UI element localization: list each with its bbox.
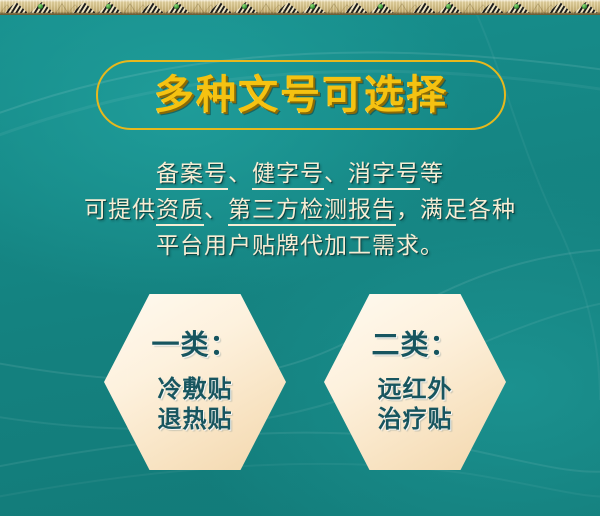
category-two-item: 治疗贴 <box>378 404 453 434</box>
category-card-one: 一类： 冷敷贴 退热贴 <box>104 294 286 470</box>
gem-icon <box>242 4 247 9</box>
border-pattern-icon <box>0 0 600 14</box>
category-card-two: 二类： 远红外 治疗贴 <box>324 294 506 470</box>
description-paragraph: 备案号、健字号、消字号等 可提供资质、第三方检测报告，满足各种 平台用户贴牌代加… <box>0 156 600 264</box>
separator: 、 <box>324 161 348 187</box>
gem-icon <box>514 4 519 9</box>
term-third-party-test-report: 第三方检测报告 <box>228 197 396 226</box>
category-two-item: 远红外 <box>378 374 453 404</box>
gem-icon <box>446 4 451 9</box>
title-banner: 多种文号可选择 <box>96 60 506 130</box>
category-one-item: 退热贴 <box>158 404 233 434</box>
gem-icon <box>106 4 111 9</box>
category-one-title: 一类： <box>151 330 238 361</box>
prefix-text: 可提供 <box>84 197 156 223</box>
separator: 、 <box>228 161 252 187</box>
category-one-item: 冷敷贴 <box>158 374 233 404</box>
term-qualification: 资质 <box>156 197 204 226</box>
suffix-text: ，满足各种 <box>396 197 516 223</box>
suffix-text: 等 <box>420 161 444 187</box>
separator: 、 <box>204 197 228 223</box>
page-title: 多种文号可选择 <box>154 75 448 115</box>
term-health-number: 健字号 <box>252 161 324 190</box>
gem-icon <box>38 4 43 9</box>
term-filing-number: 备案号 <box>156 161 228 190</box>
closing-text: 平台用户贴牌代加工需求。 <box>156 233 444 259</box>
term-sanitation-number: 消字号 <box>348 161 420 190</box>
category-two-title: 二类： <box>371 330 458 361</box>
description-line: 可提供资质、第三方检测报告，满足各种 <box>0 192 600 228</box>
promo-poster: 多种文号可选择 备案号、健字号、消字号等 可提供资质、第三方检测报告，满足各种 … <box>0 0 600 516</box>
gem-icon <box>582 4 587 9</box>
description-line: 平台用户贴牌代加工需求。 <box>0 228 600 264</box>
gem-icon <box>310 4 315 9</box>
gem-icon <box>378 4 383 9</box>
ornamental-top-border <box>0 0 600 15</box>
gem-icon <box>174 4 179 9</box>
description-line: 备案号、健字号、消字号等 <box>0 156 600 192</box>
